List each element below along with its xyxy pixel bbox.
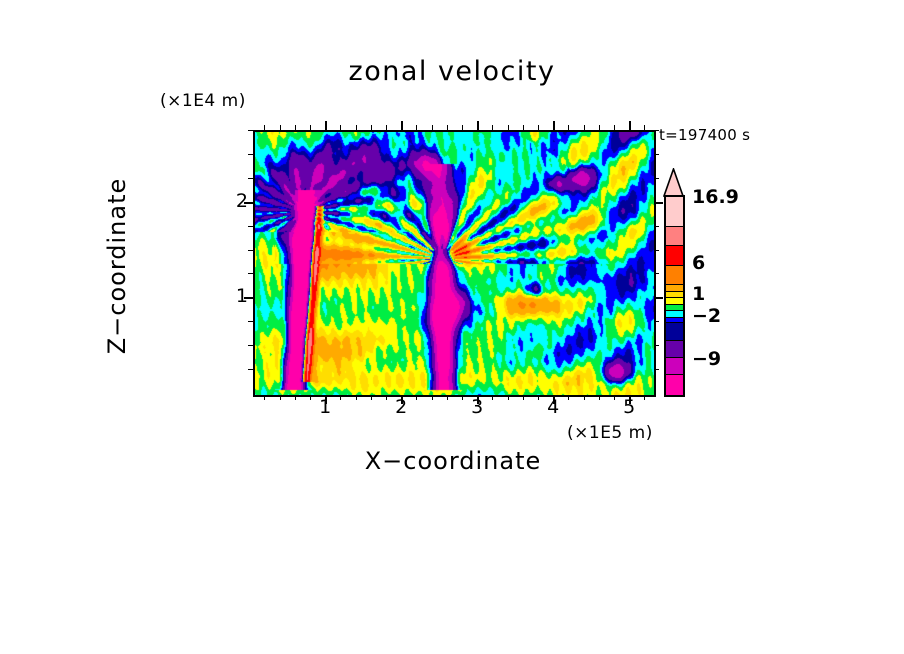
axis-tick: [462, 125, 463, 130]
axis-tick: [310, 125, 311, 130]
axis-tick: [584, 395, 585, 400]
axis-tick: [248, 321, 253, 322]
y-tick-label: 1: [218, 285, 248, 307]
colorbar-band: [666, 265, 683, 285]
axis-tick: [248, 178, 253, 179]
x-tick-label: 4: [538, 396, 568, 418]
colorbar-tick-label: 1: [692, 283, 705, 305]
plot-area: [253, 130, 656, 397]
axis-tick: [447, 125, 448, 130]
axis-tick: [654, 297, 663, 299]
axis-tick: [447, 395, 448, 400]
axis-tick: [295, 395, 296, 400]
axis-tick: [599, 395, 600, 400]
colorbar-arrow-cap: [663, 168, 684, 197]
axis-tick: [654, 345, 659, 346]
axis-tick: [654, 250, 659, 251]
axis-tick: [280, 395, 281, 400]
axis-tick: [295, 125, 296, 130]
axis-tick: [508, 125, 509, 130]
axis-tick: [523, 395, 524, 400]
timestamp-annotation: t=197400 s: [659, 126, 750, 144]
axis-tick: [477, 121, 479, 130]
axis-tick: [264, 125, 265, 130]
axis-tick: [654, 369, 659, 370]
axis-tick: [644, 125, 645, 130]
axis-tick: [553, 121, 555, 130]
y-axis-unit-label: (×1E4 m): [160, 91, 246, 111]
axis-tick: [432, 125, 433, 130]
axis-tick: [248, 369, 253, 370]
axis-tick: [654, 154, 659, 155]
axis-tick: [264, 395, 265, 400]
axis-tick: [325, 121, 327, 130]
axis-tick: [523, 125, 524, 130]
y-axis-title: Z−coordinate: [103, 136, 131, 396]
page-title: zonal velocity: [0, 56, 904, 87]
axis-tick: [654, 130, 659, 131]
axis-tick: [492, 125, 493, 130]
axis-tick: [508, 395, 509, 400]
axis-tick: [654, 178, 659, 179]
axis-tick: [568, 125, 569, 130]
colorbar-band: [666, 197, 683, 226]
axis-tick: [386, 125, 387, 130]
colorbar-tick-label: −2: [692, 305, 721, 327]
colorbar-tick-label: −9: [692, 348, 721, 370]
figure-canvas: zonal velocity (×1E4 m) (×1E5 m) X−coord…: [0, 0, 904, 654]
y-tick-label: 2: [218, 190, 248, 212]
x-axis-title: X−coordinate: [253, 447, 653, 475]
colorbar-band: [666, 357, 683, 374]
axis-tick: [654, 273, 659, 274]
axis-tick: [356, 125, 357, 130]
axis-tick: [248, 154, 253, 155]
colorbar-band: [666, 245, 683, 265]
colorbar-tick-label: 16.9: [692, 186, 739, 208]
colorbar-band: [666, 322, 683, 340]
axis-tick: [654, 202, 663, 204]
axis-tick: [356, 395, 357, 400]
x-tick-label: 5: [614, 396, 644, 418]
axis-tick: [401, 121, 403, 130]
axis-tick: [584, 125, 585, 130]
x-tick-label: 2: [386, 396, 416, 418]
axis-tick: [538, 125, 539, 130]
colorbar-band: [666, 226, 683, 246]
x-tick-label: 3: [462, 396, 492, 418]
contour-field: [255, 132, 654, 395]
colorbar-band: [666, 374, 683, 395]
axis-tick: [280, 125, 281, 130]
axis-tick: [416, 125, 417, 130]
x-axis-unit-label: (×1E5 m): [567, 423, 653, 443]
axis-tick: [654, 321, 659, 322]
axis-tick: [371, 125, 372, 130]
axis-tick: [248, 250, 253, 251]
axis-tick: [614, 125, 615, 130]
axis-tick: [248, 345, 253, 346]
axis-tick: [599, 125, 600, 130]
axis-tick: [629, 121, 631, 130]
colorbar-tick-label: 6: [692, 252, 705, 274]
axis-tick: [654, 226, 659, 227]
axis-tick: [371, 395, 372, 400]
colorbar-band: [666, 340, 683, 357]
axis-tick: [248, 273, 253, 274]
axis-tick: [432, 395, 433, 400]
axis-tick: [248, 130, 253, 131]
x-tick-label: 1: [310, 396, 340, 418]
colorbar[interactable]: [664, 195, 685, 397]
axis-tick: [340, 125, 341, 130]
axis-tick: [248, 226, 253, 227]
